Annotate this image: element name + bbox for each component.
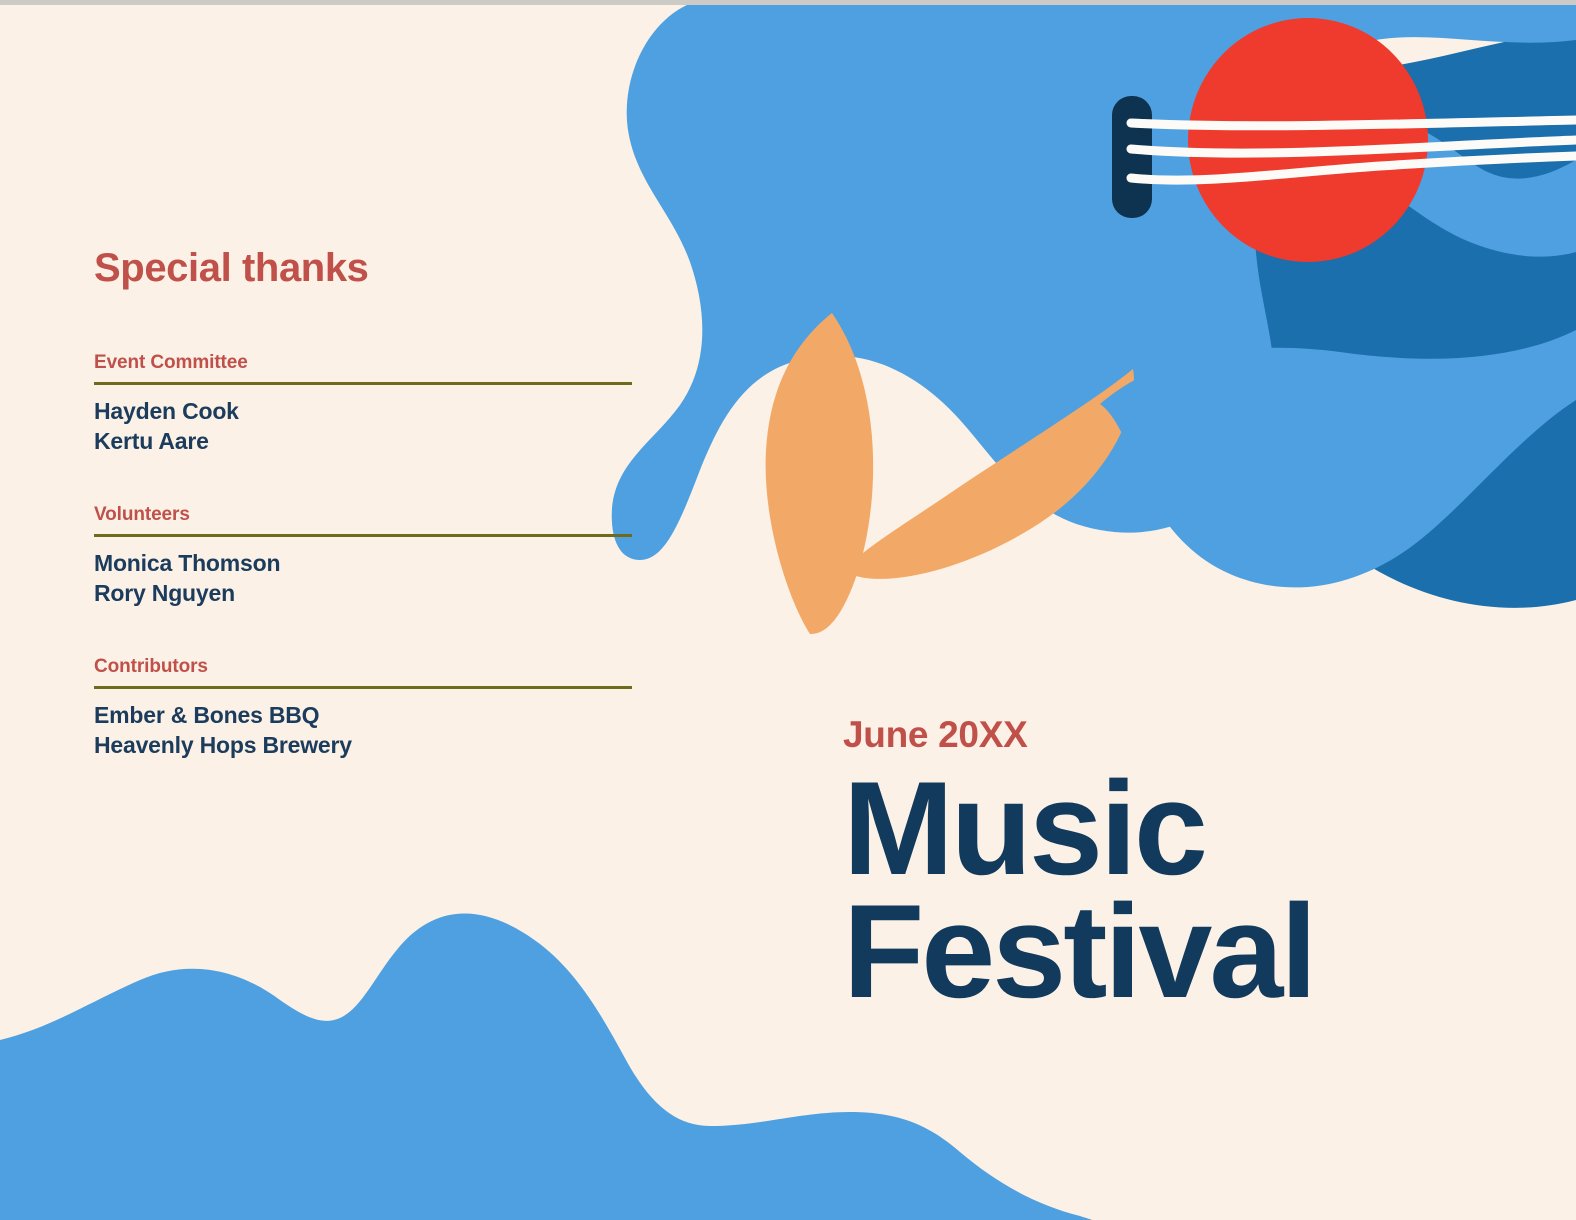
poster-canvas: Special thanks Event Committee Hayden Co… xyxy=(0,0,1576,1220)
special-thanks-section: Special thanks Event Committee Hayden Co… xyxy=(94,246,634,808)
list-item: Hayden Cook xyxy=(94,396,634,427)
group-names-contributors: Ember & Bones BBQ Heavenly Hops Brewery xyxy=(94,700,634,761)
top-border-strip xyxy=(0,0,1576,5)
group-names-volunteers: Monica Thomson Rory Nguyen xyxy=(94,548,634,609)
group-names-event-committee: Hayden Cook Kertu Aare xyxy=(94,396,634,457)
festival-name: Music Festival xyxy=(843,768,1543,1015)
festival-name-line-2: Festival xyxy=(843,891,1543,1015)
festival-title-block: June 20XX Music Festival xyxy=(843,715,1543,1015)
group-divider-volunteers xyxy=(94,534,632,537)
list-item: Ember & Bones BBQ xyxy=(94,700,634,731)
group-label-volunteers: Volunteers xyxy=(94,504,634,534)
list-item: Kertu Aare xyxy=(94,426,634,457)
group-label-event-committee: Event Committee xyxy=(94,352,634,382)
group-divider-contributors xyxy=(94,686,632,689)
list-item: Rory Nguyen xyxy=(94,578,634,609)
festival-date: June 20XX xyxy=(843,715,1543,756)
group-divider-event-committee xyxy=(94,382,632,385)
page-title: Special thanks xyxy=(94,246,634,290)
thanks-group-event-committee: Event Committee Hayden Cook Kertu Aare xyxy=(94,352,634,457)
list-item: Heavenly Hops Brewery xyxy=(94,730,634,761)
list-item: Monica Thomson xyxy=(94,548,634,579)
festival-name-line-1: Music xyxy=(843,768,1543,892)
thanks-group-volunteers: Volunteers Monica Thomson Rory Nguyen xyxy=(94,504,634,609)
group-label-contributors: Contributors xyxy=(94,656,634,686)
thanks-group-contributors: Contributors Ember & Bones BBQ Heavenly … xyxy=(94,656,634,761)
